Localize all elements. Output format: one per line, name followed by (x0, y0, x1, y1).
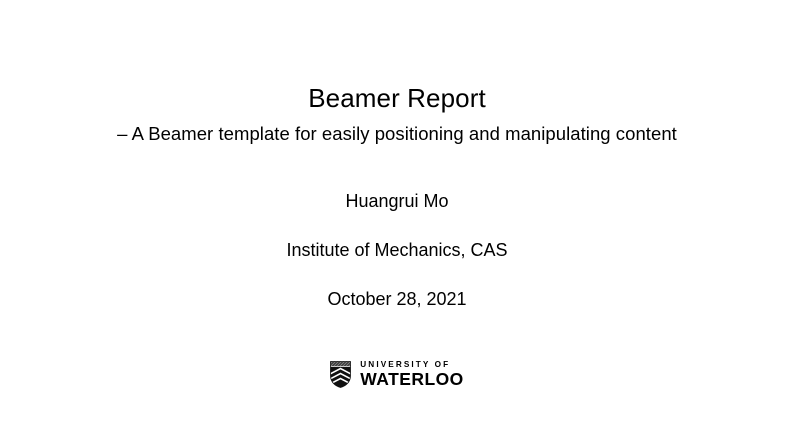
title-slide: Beamer Report – A Beamer template for ea… (0, 0, 794, 447)
page-subtitle: – A Beamer template for easily positioni… (0, 121, 794, 147)
author-info-block: Huangrui Mo Institute of Mechanics, CAS … (0, 189, 794, 311)
logo-wordmark: UNIVERSITY OF WATERLOO (360, 361, 463, 389)
logo-inner: UNIVERSITY OF WATERLOO (330, 361, 463, 389)
institute-name: Institute of Mechanics, CAS (0, 238, 794, 262)
institution-logo: UNIVERSITY OF WATERLOO (0, 361, 794, 389)
presentation-date: October 28, 2021 (0, 287, 794, 311)
title-block: Beamer Report – A Beamer template for ea… (0, 82, 794, 147)
waterloo-shield-icon (330, 361, 351, 388)
logo-university-of-text: UNIVERSITY OF (360, 361, 463, 369)
logo-waterloo-text: WATERLOO (360, 371, 463, 389)
page-title: Beamer Report (0, 82, 794, 114)
author-name: Huangrui Mo (0, 189, 794, 213)
